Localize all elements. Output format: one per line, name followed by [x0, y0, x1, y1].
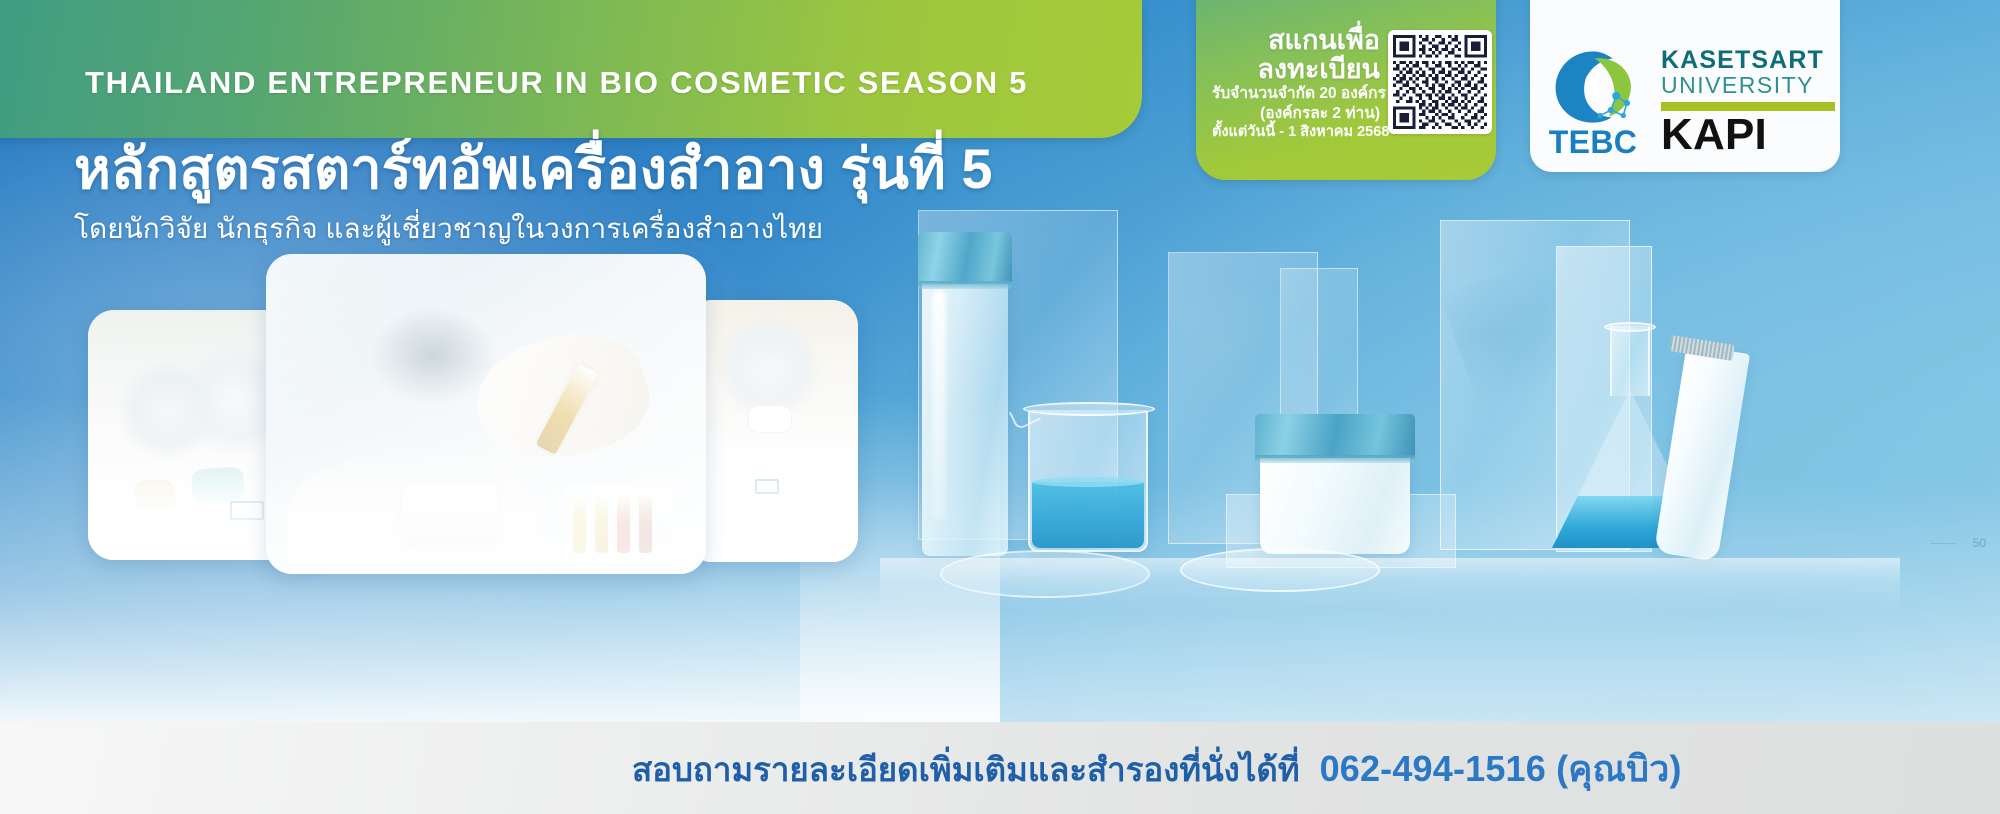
tebc-emblem-icon	[1548, 46, 1638, 128]
page-subtitle: โดยนักวิจัย นักธุรกิจ และผู้เชี่ยวชาญในว…	[74, 207, 1174, 251]
photo-gloved-hands-formulation	[266, 254, 706, 574]
partner-logo-card: TEBC KASETSART UNIVERSITY KAPI	[1530, 0, 1840, 172]
flask-rim	[1604, 322, 1656, 332]
bottle-highlight	[932, 290, 946, 520]
contact-label: สอบถามรายละเอียดเพิ่มเติมและสำรองที่นั่ง…	[632, 743, 1300, 796]
lab-beaker	[1028, 410, 1148, 552]
tebc-wordmark: TEBC	[1549, 126, 1637, 158]
footer-contact-bar: สอบถามรายละเอียดเพิ่มเติมและสำรองที่นั่ง…	[0, 722, 2000, 814]
headline-block: หลักสูตรสตาร์ทอัพเครื่องสำอาง รุ่นที่ 5 …	[74, 138, 1174, 251]
qr-registration-card[interactable]: สแกนเพื่อ ลงทะเบียน รับจำนวนจำกัด 20 องค…	[1196, 0, 1496, 180]
qr-code[interactable]	[1388, 30, 1492, 134]
page-title: หลักสูตรสตาร์ทอัพเครื่องสำอาง รุ่นที่ 5	[74, 138, 1174, 201]
beaker-graduation-tick	[1930, 543, 1956, 545]
promotional-banner: 50 THAILAND ENTREPRENEUR IN BIO COSMETIC…	[0, 0, 2000, 814]
kasetsart-line2: UNIVERSITY	[1661, 73, 1814, 98]
green-header-ribbon: THAILAND ENTREPRENEUR IN BIO COSMETIC SE…	[0, 0, 1142, 138]
qr-detail-per-org: (องค์กรละ 2 ท่าน)	[1212, 104, 1380, 124]
qr-detail-deadline: ตั้งแต่วันนี้ - 1 สิงหาคม 2568	[1212, 123, 1380, 141]
kasetsart-line1: KASETSART	[1661, 47, 1824, 73]
kasetsart-kapi-logo: KASETSART UNIVERSITY KAPI	[1661, 47, 1835, 158]
contact-phone[interactable]: 062-494-1516 (คุณบิว)	[1320, 740, 1682, 797]
tebc-logo: TEBC	[1535, 46, 1651, 158]
qr-title-line1: สแกนเพื่อ	[1212, 26, 1380, 55]
qr-card-text: สแกนเพื่อ ลงทะเบียน รับจำนวนจำกัด 20 องค…	[1212, 24, 1380, 142]
qr-detail-capacity: รับจำนวนจำกัด 20 องค์กร	[1212, 84, 1380, 104]
photo-researcher-bench	[686, 300, 858, 562]
cosmetic-tube	[1654, 344, 1750, 561]
beaker-rim	[1023, 402, 1155, 416]
footer-contact-inner: สอบถามรายละเอียดเพิ่มเติมและสำรองที่นั่ง…	[632, 740, 1682, 797]
program-eyebrow-title: THAILAND ENTREPRENEUR IN BIO COSMETIC SE…	[85, 65, 1028, 101]
reflective-surface	[880, 558, 1900, 610]
cream-jar-lid	[1255, 414, 1415, 458]
kapi-wordmark: KAPI	[1661, 114, 1767, 156]
qr-title-line2: ลงทะเบียน	[1212, 55, 1380, 84]
beaker-graduation-label: 50	[1973, 536, 1986, 550]
flask-neck	[1610, 326, 1650, 396]
qr-code-icon	[1393, 35, 1487, 129]
